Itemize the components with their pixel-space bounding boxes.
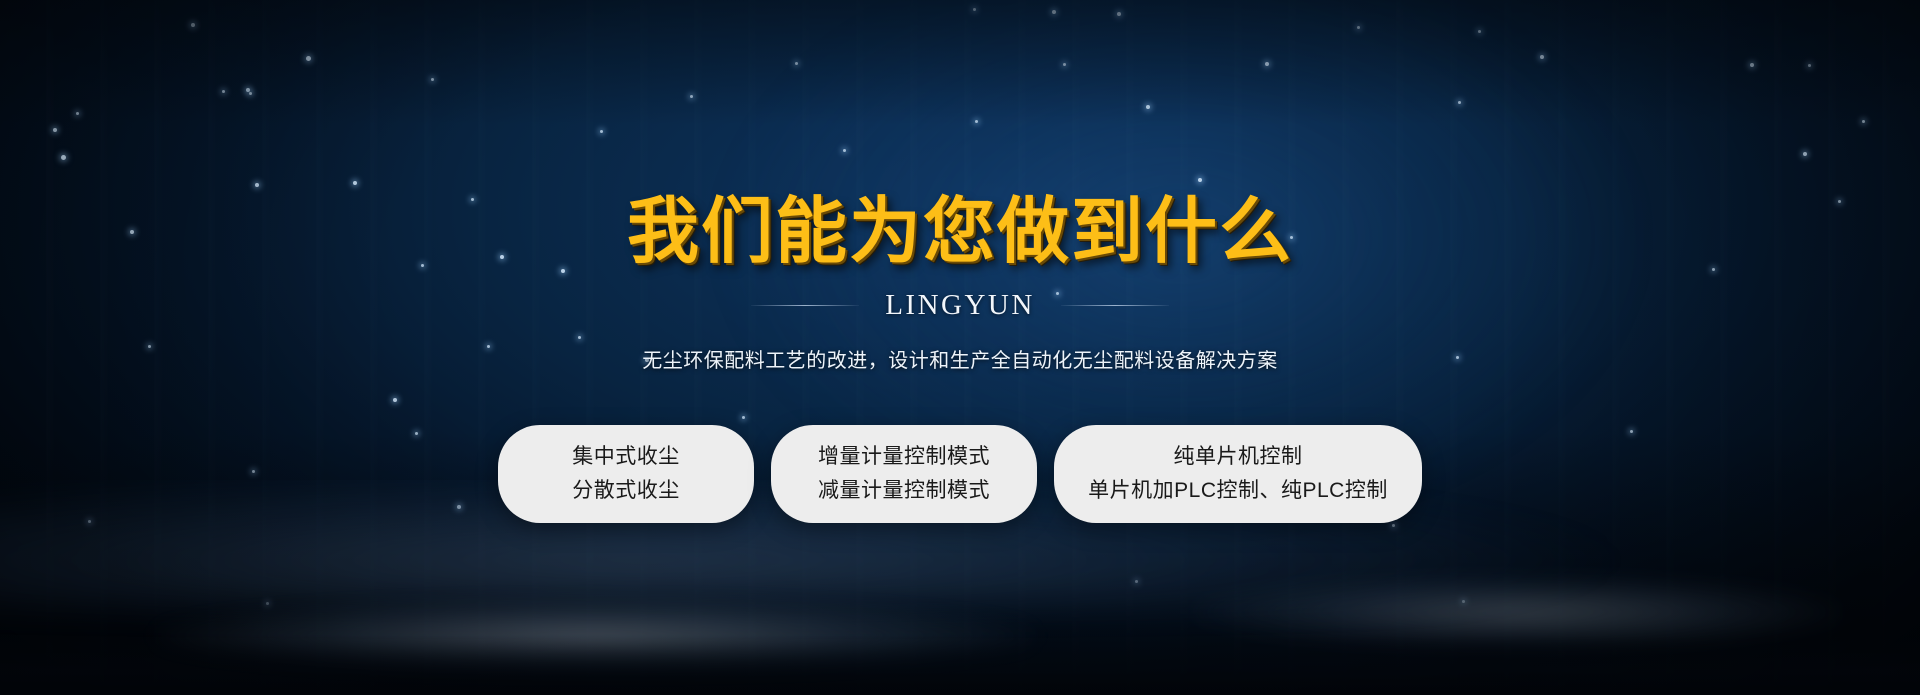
feature-pill-controller-type[interactable]: 纯单片机控制 单片机加PLC控制、纯PLC控制: [1054, 425, 1422, 523]
banner-headline: 我们能为您做到什么: [627, 195, 1293, 267]
feature-pill-metering-control-mode[interactable]: 增量计量控制模式 减量计量控制模式: [771, 425, 1037, 523]
banner-latin-subtitle: LINGYUN: [885, 289, 1035, 322]
feature-pill-dust-collection[interactable]: 集中式收尘 分散式收尘: [498, 425, 754, 523]
subtitle-rule-right: [1061, 305, 1169, 306]
banner-content: 我们能为您做到什么 LINGYUN 无尘环保配料工艺的改进，设计和生产全自动化无…: [0, 0, 1920, 695]
pill-line: 纯单片机控制: [1174, 446, 1303, 468]
subtitle-row: LINGYUN: [751, 289, 1169, 322]
hero-banner: 我们能为您做到什么 LINGYUN 无尘环保配料工艺的改进，设计和生产全自动化无…: [0, 0, 1920, 695]
pill-line: 单片机加PLC控制、纯PLC控制: [1088, 480, 1388, 502]
pill-line: 分散式收尘: [572, 480, 680, 502]
subtitle-rule-left: [751, 305, 859, 306]
pill-line: 减量计量控制模式: [818, 480, 990, 502]
pill-line: 集中式收尘: [572, 446, 680, 468]
feature-pill-group: 集中式收尘 分散式收尘 增量计量控制模式 减量计量控制模式 纯单片机控制 单片机…: [498, 425, 1422, 523]
pill-line: 增量计量控制模式: [818, 446, 990, 468]
banner-description: 无尘环保配料工艺的改进，设计和生产全自动化无尘配料设备解决方案: [642, 344, 1278, 373]
